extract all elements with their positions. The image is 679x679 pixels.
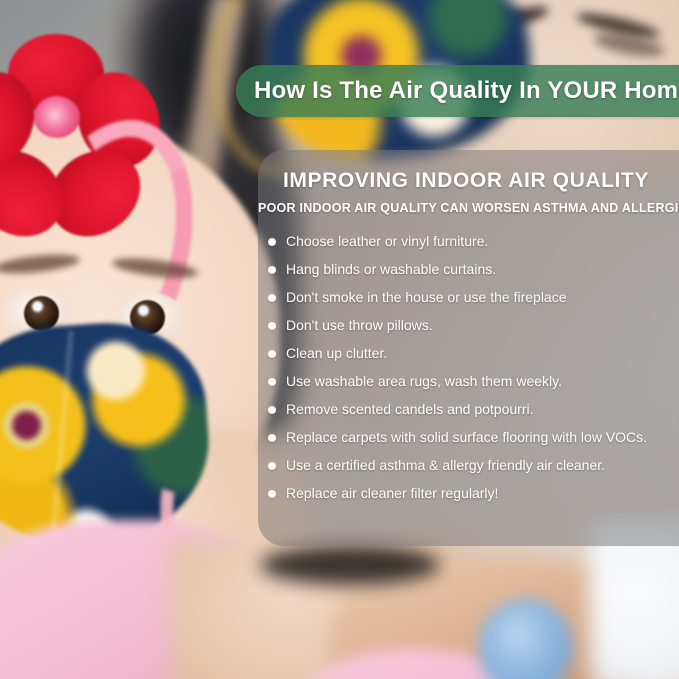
list-item: Choose leather or vinyl furniture. <box>268 233 679 261</box>
list-item: Clean up clutter. <box>268 345 679 373</box>
tip-text: Don't smoke in the house or use the fire… <box>286 289 567 305</box>
list-item: Remove scented candels and potpourri. <box>268 401 679 429</box>
bullet-icon <box>268 350 276 358</box>
tip-text: Use a certified asthma & allergy friendl… <box>286 457 605 473</box>
tip-text: Replace carpets with solid surface floor… <box>286 429 647 445</box>
dark-shadow-blur <box>260 545 440 585</box>
baby-eye-glint-right <box>138 305 149 316</box>
list-item: Replace carpets with solid surface floor… <box>268 429 679 457</box>
bullet-icon <box>268 406 276 414</box>
list-item: Don't use throw pillows. <box>268 317 679 345</box>
panel-subheading: POOR INDOOR AIR QUALITY CAN WORSEN ASTHM… <box>258 201 679 215</box>
info-panel: IMPROVING INDOOR AIR QUALITY POOR INDOOR… <box>258 150 679 546</box>
poster-root: How Is The Air Quality In YOUR Home IMPR… <box>0 0 679 679</box>
bullet-icon <box>268 434 276 442</box>
headline-text: How Is The Air Quality In YOUR Home <box>254 77 679 105</box>
bullet-icon <box>268 322 276 330</box>
bullet-icon <box>268 378 276 386</box>
tip-text: Remove scented candels and potpourri. <box>286 401 533 417</box>
list-item: Replace air cleaner filter regularly! <box>268 485 679 513</box>
headline-banner: How Is The Air Quality In YOUR Home <box>236 65 679 117</box>
tip-text: Hang blinds or washable curtains. <box>286 261 496 277</box>
list-item: Use washable area rugs, wash them weekly… <box>268 373 679 401</box>
panel-heading: IMPROVING INDOOR AIR QUALITY <box>258 169 679 193</box>
baby-eye-glint-left <box>32 301 43 312</box>
bullet-icon <box>268 490 276 498</box>
tip-text: Use washable area rugs, wash them weekly… <box>286 373 562 389</box>
tip-text: Choose leather or vinyl furniture. <box>286 233 488 249</box>
list-item: Hang blinds or washable curtains. <box>268 261 679 289</box>
tip-text: Don't use throw pillows. <box>286 317 433 333</box>
tip-text: Replace air cleaner filter regularly! <box>286 485 498 501</box>
tip-text: Clean up clutter. <box>286 345 387 361</box>
bullet-icon <box>268 294 276 302</box>
bullet-icon <box>268 238 276 246</box>
bullet-icon <box>268 462 276 470</box>
list-item: Don't smoke in the house or use the fire… <box>268 289 679 317</box>
tips-list: Choose leather or vinyl furniture. Hang … <box>258 233 679 513</box>
bullet-icon <box>268 266 276 274</box>
list-item: Use a certified asthma & allergy friendl… <box>268 457 679 485</box>
flower-center <box>34 96 80 138</box>
